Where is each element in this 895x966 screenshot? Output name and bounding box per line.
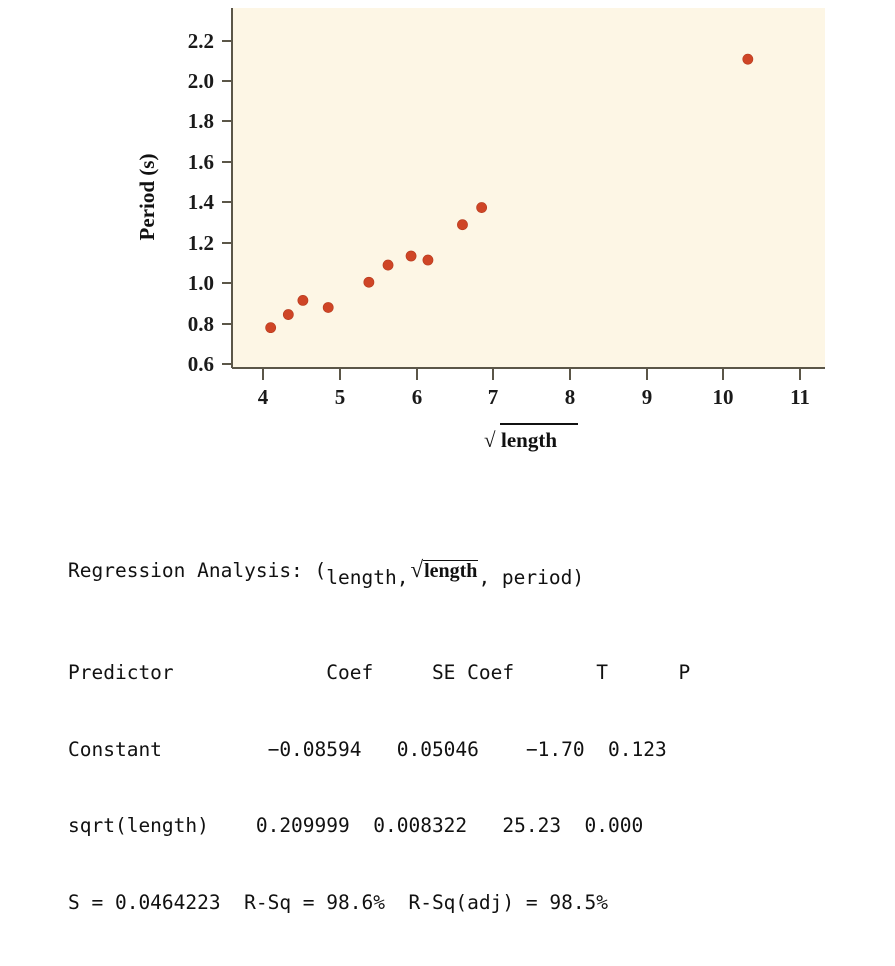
plot-canvas: 2.2 2.0 1.8 1.6 1.4 1.2 1.0 0.8 0.6 Peri… (0, 0, 895, 465)
x-tick-label-6: 10 (713, 385, 734, 409)
x-tick-label-3: 7 (488, 385, 499, 409)
x-tick-label-2: 6 (412, 385, 423, 409)
y-axis-title: Period (s) (135, 154, 159, 241)
regression-title-radicand: length (423, 560, 478, 582)
data-point (283, 309, 293, 319)
data-point (457, 220, 467, 230)
y-tick-label-4: 1.4 (188, 190, 215, 214)
regression-output-block: Regression Analysis: (length,√length, pe… (68, 480, 888, 966)
x-axis-ticks (263, 368, 800, 380)
x-axis-radical-glyph: √ (484, 428, 496, 452)
y-tick-label-5: 1.2 (188, 231, 214, 255)
scatter-plot-figure: 2.2 2.0 1.8 1.6 1.4 1.2 1.0 0.8 0.6 Peri… (0, 0, 895, 465)
data-point (266, 323, 276, 333)
data-point (743, 54, 753, 64)
y-tick-label-8: 0.6 (188, 352, 214, 376)
x-axis-title: √ length (484, 424, 578, 452)
x-tick-label-7: 11 (790, 385, 810, 409)
y-tick-label-3: 1.6 (188, 150, 214, 174)
y-axis-ticks (222, 41, 232, 364)
regression-row-constant: Constant −0.08594 0.05046 −1.70 0.123 (68, 737, 888, 763)
data-point (477, 202, 487, 212)
regression-title-sqrt-length: √length (408, 557, 478, 585)
y-tick-label-7: 0.8 (188, 312, 214, 336)
data-point (423, 255, 433, 265)
data-point (364, 277, 374, 287)
y-tick-label-1: 2.0 (188, 69, 214, 93)
y-tick-label-0: 2.2 (188, 29, 214, 53)
regression-summary-row: S = 0.0464223 R-Sq = 98.6% R-Sq(adj) = 9… (68, 890, 888, 916)
y-axis-tick-labels: 2.2 2.0 1.8 1.6 1.4 1.2 1.0 0.8 0.6 (188, 29, 215, 376)
plot-background (232, 8, 825, 368)
x-tick-label-5: 9 (642, 385, 653, 409)
data-point (383, 260, 393, 270)
x-tick-label-4: 8 (565, 385, 576, 409)
regression-header-row: Predictor Coef SE Coef T P (68, 660, 888, 686)
data-point (406, 251, 416, 261)
regression-title-sub-period: , period) (478, 565, 584, 591)
y-tick-label-6: 1.0 (188, 271, 214, 295)
regression-row-sqrt-length: sqrt(length) 0.209999 0.008322 25.23 0.0… (68, 813, 888, 839)
x-axis-radicand-label: length (501, 428, 557, 452)
x-axis-tick-labels: 4 5 6 7 8 9 10 11 (258, 385, 810, 409)
data-point (298, 295, 308, 305)
radical-icon: √ (410, 557, 423, 582)
regression-title-line: Regression Analysis: (length,√length, pe… (68, 557, 888, 584)
x-tick-label-0: 4 (258, 385, 269, 409)
x-tick-label-1: 5 (335, 385, 346, 409)
regression-title-prefix: Regression Analysis: ( (68, 559, 326, 582)
data-point (323, 302, 333, 312)
regression-title-sub-length: length, (326, 565, 408, 591)
y-tick-label-2: 1.8 (188, 109, 214, 133)
